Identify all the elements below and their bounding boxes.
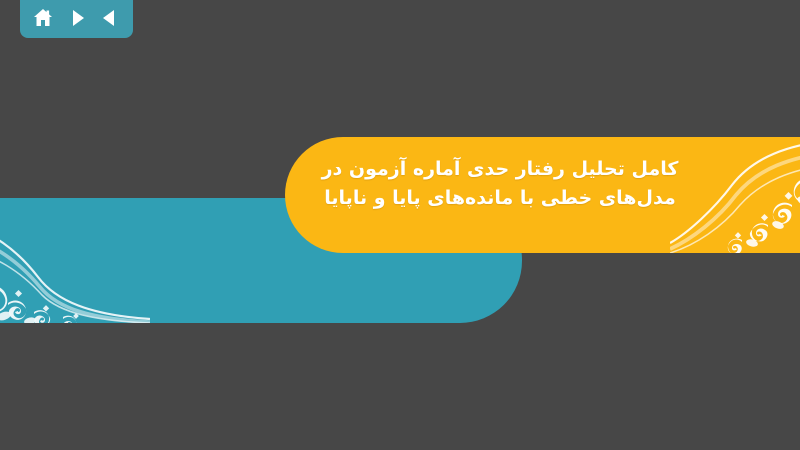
- back-button[interactable]: [96, 4, 124, 32]
- forward-button[interactable]: [63, 4, 91, 32]
- slide-canvas: کامل تحلیل رفتار حدی آماره آزمون در مدل‌…: [0, 0, 800, 450]
- navigation-bar: [20, 0, 133, 38]
- home-button[interactable]: [29, 4, 57, 32]
- slide-title: کامل تحلیل رفتار حدی آماره آزمون در مدل‌…: [300, 155, 700, 213]
- back-triangle-icon: [100, 8, 120, 28]
- forward-triangle-icon: [67, 8, 87, 28]
- teal-arabesque-ornament-icon: [0, 211, 150, 323]
- slide-title-line-2: مدل‌های خطی با مانده‌های پایا و ناپایا: [300, 184, 700, 213]
- slide-title-line-1: کامل تحلیل رفتار حدی آماره آزمون در: [300, 155, 700, 184]
- home-icon: [32, 7, 54, 29]
